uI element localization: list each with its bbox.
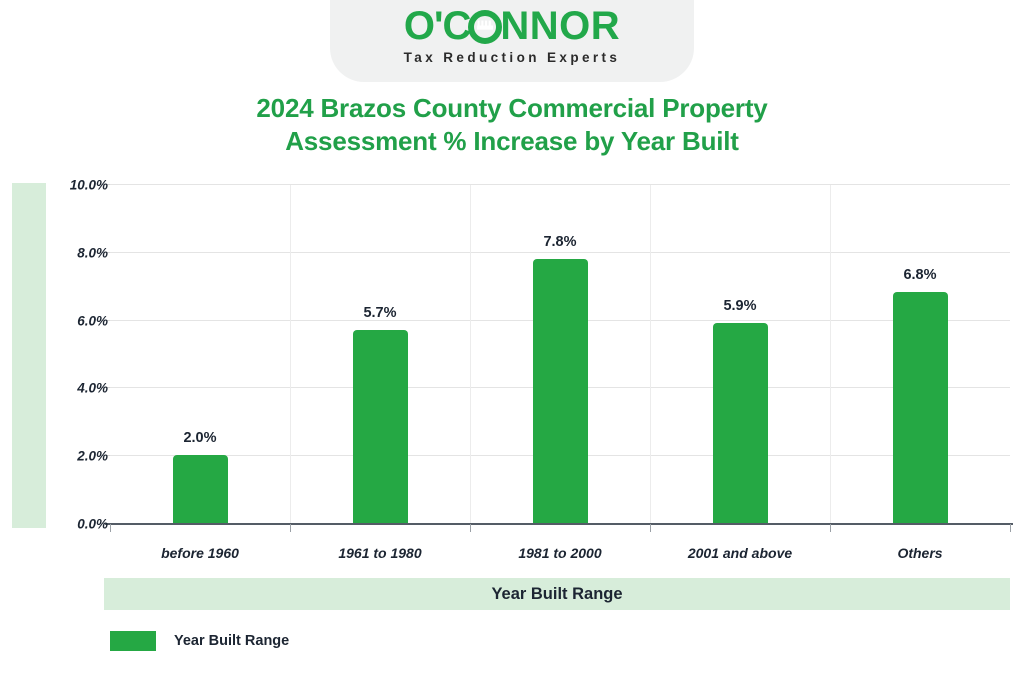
- legend-swatch: [110, 631, 156, 651]
- x-axis-tick-label: 1961 to 1980: [290, 545, 470, 561]
- chart-title-line-2: Assessment % Increase by Year Built: [0, 125, 1024, 158]
- y-axis-tick-label: 10.0%: [18, 178, 108, 193]
- vertical-gridline: [830, 185, 831, 524]
- logo-wordmark-suffix: NNOR: [500, 4, 620, 48]
- x-axis-tick-label: before 1960: [110, 545, 290, 561]
- gridline: [110, 252, 1010, 253]
- bar[interactable]: [533, 259, 588, 523]
- bar-value-label: 6.8%: [865, 267, 975, 283]
- x-axis-tick-label: Others: [830, 545, 1010, 561]
- y-axis-tick-label: 6.0%: [18, 313, 108, 328]
- bar-value-label: 5.9%: [685, 298, 795, 314]
- x-axis-title-band: Year Built Range: [104, 578, 1010, 610]
- logo-tagline: Tax Reduction Experts: [330, 50, 694, 65]
- x-axis-tick-mark: [1010, 524, 1011, 532]
- bar[interactable]: [893, 292, 948, 523]
- y-axis-tick-label: 8.0%: [18, 245, 108, 260]
- logo-wordmark: O'C NNOR: [330, 6, 694, 46]
- x-axis-tick-label: 1981 to 2000: [470, 545, 650, 561]
- x-axis-tick-mark: [110, 524, 111, 532]
- x-axis-tick-mark: [290, 524, 291, 532]
- chart-title-line-1: 2024 Brazos County Commercial Property: [0, 92, 1024, 125]
- fork-in-circle-icon: [468, 10, 502, 44]
- plot-area: 0.0%2.0%4.0%6.0%8.0%10.0% 2.0%5.7%7.8%5.…: [110, 185, 1010, 524]
- legend-label: Year Built Range: [174, 633, 289, 649]
- chart-legend[interactable]: Year Built Range: [110, 631, 289, 651]
- y-axis-title-band: Increase %: [12, 183, 46, 528]
- x-axis-tick-label: 2001 and above: [650, 545, 830, 561]
- bar-value-label: 7.8%: [505, 234, 615, 250]
- chart-title: 2024 Brazos County Commercial Property A…: [0, 92, 1024, 158]
- bar[interactable]: [713, 323, 768, 523]
- x-axis-tick-mark: [830, 524, 831, 532]
- bar-value-label: 2.0%: [145, 430, 255, 446]
- gridline: [110, 184, 1010, 185]
- y-axis-tick-label: 4.0%: [18, 381, 108, 396]
- x-axis-line: [105, 523, 1013, 525]
- y-axis-tick-label: 2.0%: [18, 449, 108, 464]
- brand-logo: O'C NNOR Tax Reduction Experts: [330, 0, 694, 82]
- vertical-gridline: [470, 185, 471, 524]
- bar-value-label: 5.7%: [325, 305, 435, 321]
- vertical-gridline: [650, 185, 651, 524]
- vertical-gridline: [290, 185, 291, 524]
- bar[interactable]: [353, 330, 408, 523]
- x-axis-title: Year Built Range: [491, 585, 622, 604]
- x-axis-tick-mark: [650, 524, 651, 532]
- y-axis-tick-label: 0.0%: [18, 517, 108, 532]
- x-axis-tick-mark: [470, 524, 471, 532]
- bar[interactable]: [173, 455, 228, 523]
- logo-wordmark-prefix: O'C: [404, 4, 471, 48]
